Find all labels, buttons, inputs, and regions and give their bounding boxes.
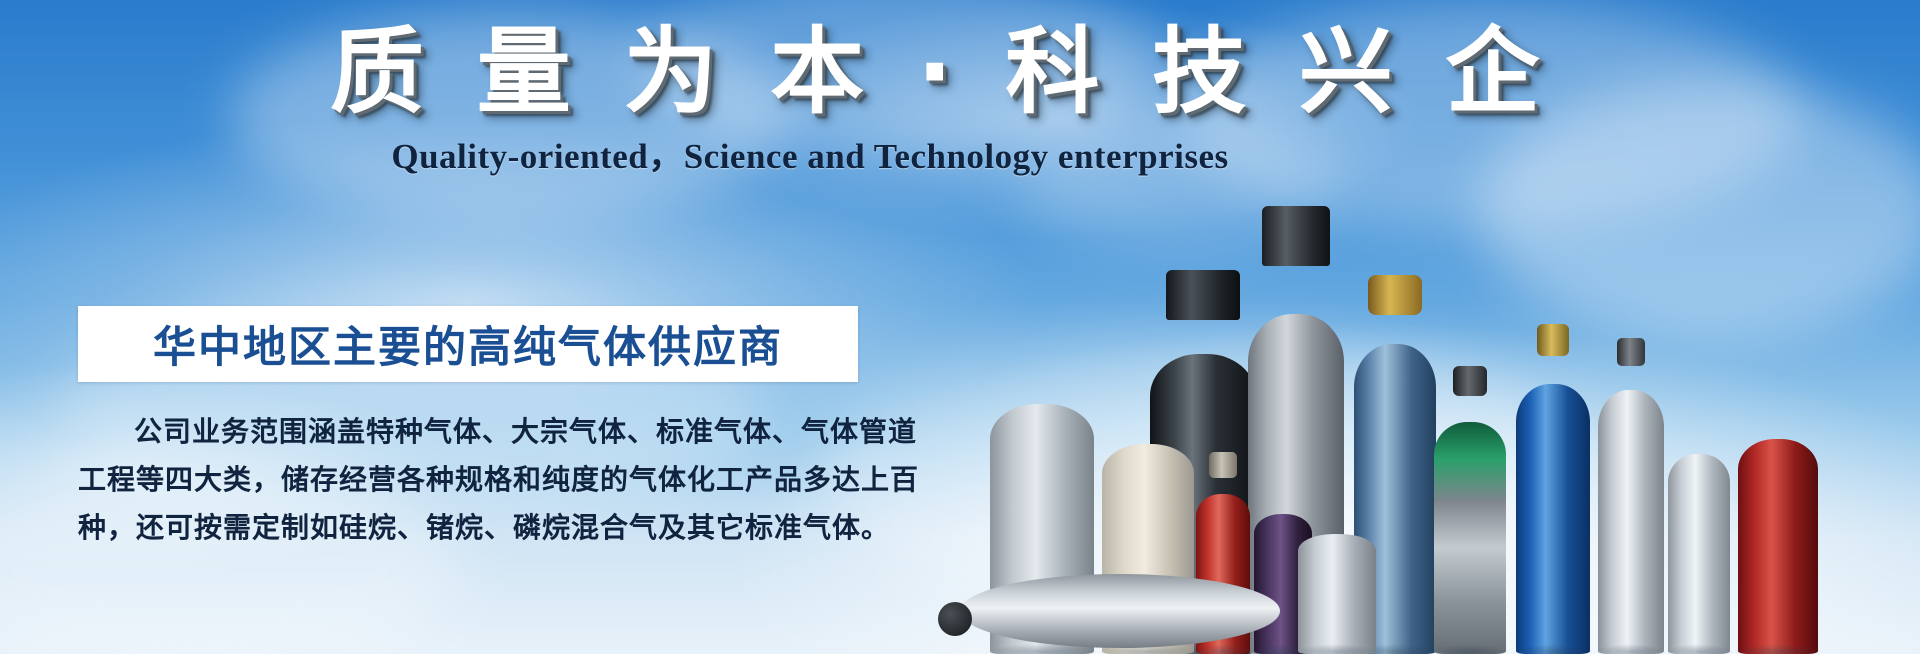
cylinder-body	[1668, 454, 1730, 654]
cylinder-body	[1298, 534, 1376, 654]
cylinder-shadow	[1295, 644, 1379, 654]
cylinder-horizontal-tank	[960, 574, 1280, 648]
cylinder-valve	[1209, 452, 1237, 478]
promo-banner: 质 量 为 本 · 科 技 兴 企 Quality-oriented，Scien…	[0, 0, 1920, 654]
cylinder-aluminium-small	[1298, 534, 1376, 654]
headline-english-subtitle: Quality-oriented，Science and Technology …	[330, 128, 1290, 179]
cylinder-shadow	[1735, 644, 1821, 654]
gas-cylinder-product-image	[1150, 180, 1920, 654]
cylinder-green	[1434, 394, 1506, 654]
cylinder-valve	[1617, 338, 1645, 366]
paragraph-line: 工程等四大类，储存经营各种规格和纯度的气体化工产品多达上百	[78, 456, 878, 504]
cylinder-aluminium-medium	[1668, 454, 1730, 654]
highlight-box: 华中地区主要的高纯气体供应商	[78, 306, 858, 382]
cylinder-shadow	[1513, 644, 1593, 654]
cylinder-bright-blue	[1516, 354, 1590, 654]
cylinder-dark-red	[1738, 439, 1818, 654]
cylinder-shadow	[1431, 644, 1509, 654]
cylinder-valve	[1537, 324, 1569, 356]
cylinder-shadow	[1666, 644, 1733, 654]
paragraph-line: 种，还可按需定制如硅烷、锗烷、磷烷混合气及其它标准气体。	[78, 504, 878, 552]
headline-chinese: 质 量 为 本 · 科 技 兴 企	[330, 22, 1290, 124]
paragraph-line: 公司业务范围涵盖特种气体、大宗气体、标准气体、气体管道	[78, 408, 878, 456]
cylinder-valve	[1453, 366, 1487, 396]
tank-valve	[938, 602, 972, 636]
headline-block: 质 量 为 本 · 科 技 兴 企 Quality-oriented，Scien…	[330, 22, 1290, 179]
cylinder-cap	[1166, 270, 1240, 320]
cylinder-body	[1516, 384, 1590, 654]
description-paragraph: 公司业务范围涵盖特种气体、大宗气体、标准气体、气体管道 工程等四大类，储存经营各…	[78, 408, 878, 552]
cylinder-valve	[1368, 275, 1422, 315]
cylinder-body	[1598, 390, 1664, 654]
cylinder-body	[1738, 439, 1818, 654]
cylinder-shadow	[1194, 644, 1252, 654]
cylinder-shadow	[1595, 644, 1666, 654]
highlight-box-text: 华中地区主要的高纯气体供应商	[153, 313, 783, 375]
cylinder-body	[1434, 422, 1506, 654]
cylinder-cap	[1262, 206, 1330, 266]
cylinder-aluminium-tall	[1598, 364, 1664, 654]
